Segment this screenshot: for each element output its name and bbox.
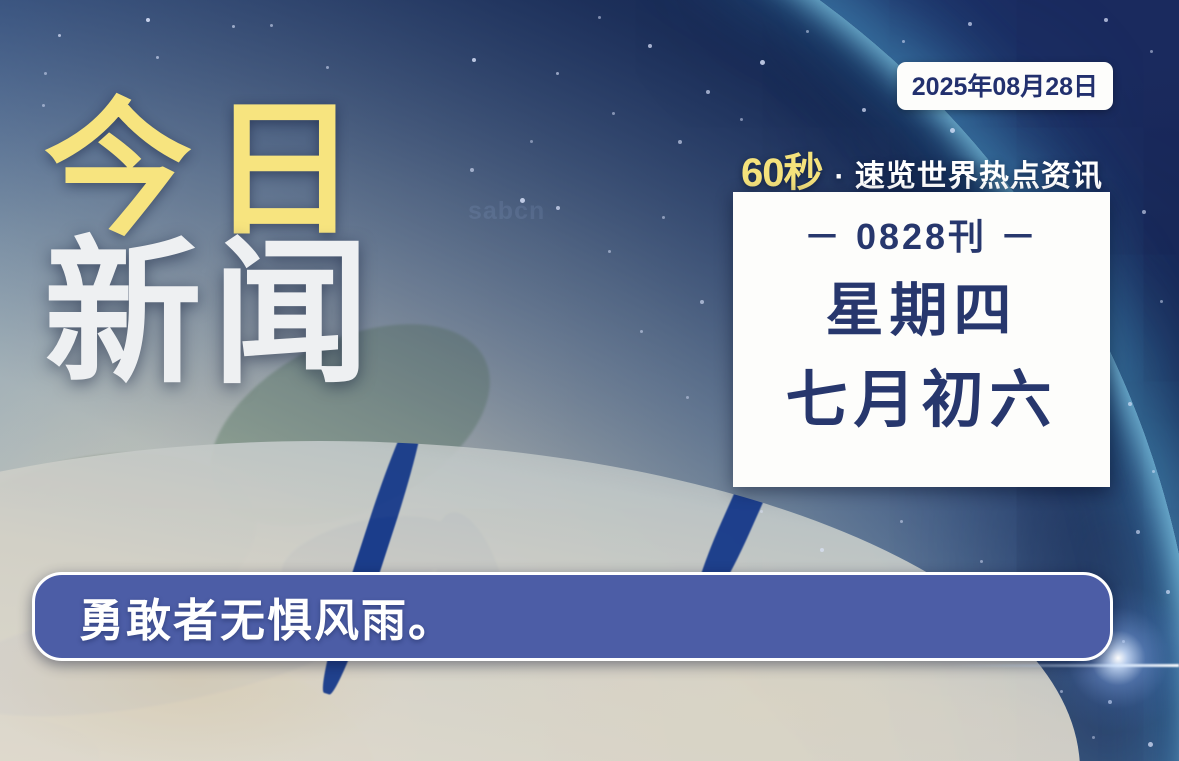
- tagline-highlight: 60秒: [741, 140, 823, 198]
- star: [530, 140, 533, 143]
- star: [900, 520, 903, 523]
- date-badge: 2025年08月28日: [897, 62, 1113, 110]
- star: [556, 72, 559, 75]
- lens-flare-streak: [949, 664, 1179, 667]
- star: [44, 72, 47, 75]
- star: [556, 206, 560, 210]
- star: [760, 510, 763, 513]
- star: [706, 90, 710, 94]
- star: [740, 118, 743, 121]
- star: [662, 216, 665, 219]
- star: [472, 58, 476, 62]
- tagline: 60秒 · 速览世界热点资讯: [741, 140, 1103, 198]
- star: [270, 24, 273, 27]
- star: [902, 40, 905, 43]
- star: [700, 300, 704, 304]
- star: [1150, 50, 1153, 53]
- star: [1104, 18, 1108, 22]
- star: [232, 25, 235, 28]
- title-line-jinri: 今日: [44, 98, 380, 243]
- star: [326, 66, 329, 69]
- star: [862, 108, 866, 112]
- star: [760, 60, 765, 65]
- date-info-card: － 0828刊 － 星期四 七月初六: [733, 192, 1110, 487]
- star: [1160, 300, 1163, 303]
- background-watermark: sabcn: [468, 197, 545, 226]
- star: [1148, 742, 1153, 747]
- title-line-xinwen: 新闻: [44, 235, 380, 393]
- tagline-rest: · 速览世界热点资讯: [835, 151, 1103, 195]
- star: [820, 548, 824, 552]
- page-title: 今日 新闻: [44, 98, 380, 393]
- star: [968, 22, 972, 26]
- poster-canvas: sabcn 2025年08月28日 今日 新闻 60秒 · 速览世界热点资讯 －…: [0, 0, 1179, 761]
- star: [1092, 736, 1095, 739]
- star: [608, 250, 611, 253]
- star: [950, 128, 955, 133]
- star: [640, 330, 643, 333]
- star: [612, 112, 615, 115]
- star: [1142, 210, 1146, 214]
- star: [156, 56, 159, 59]
- star: [598, 16, 601, 19]
- quote-bar: 勇敢者无惧风雨。: [32, 572, 1113, 661]
- star: [980, 560, 983, 563]
- star: [648, 44, 652, 48]
- star: [470, 168, 474, 172]
- star: [58, 34, 61, 37]
- card-lunar-date: 七月初六: [785, 370, 1057, 432]
- star: [1128, 402, 1132, 406]
- star: [678, 140, 682, 144]
- star: [146, 18, 150, 22]
- star: [1136, 530, 1140, 534]
- star: [686, 396, 689, 399]
- card-weekday: 星期四: [825, 282, 1017, 340]
- card-issue-number: － 0828刊 －: [804, 208, 1039, 260]
- quote-text: 勇敢者无惧风雨。: [79, 584, 455, 649]
- star: [1152, 470, 1155, 473]
- star: [806, 30, 809, 33]
